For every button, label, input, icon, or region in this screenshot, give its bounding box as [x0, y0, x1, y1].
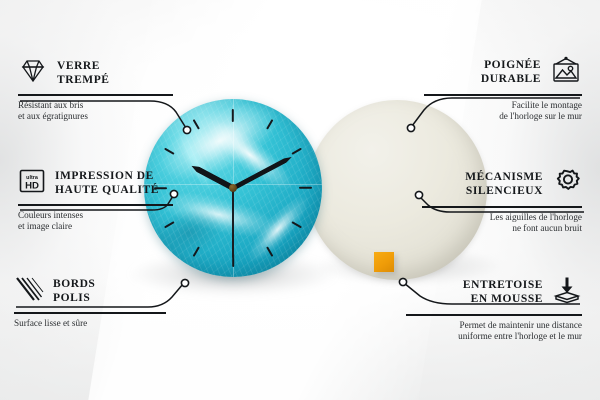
- feature-title: ENTRETOISEEN MOUSSE: [463, 279, 543, 306]
- feature-desc: Surface lisse et sûre: [14, 318, 172, 329]
- feature-title: IMPRESSION DEHAUTE QUALITÉ: [55, 170, 159, 197]
- ultra-hd-icon: ultra HD: [18, 168, 46, 199]
- diamond-icon: [18, 58, 48, 89]
- diagonal-stripes-icon: [14, 276, 44, 307]
- title-rule: [18, 94, 173, 96]
- clock-tick: [164, 148, 175, 155]
- feature-desc: Couleurs intenseset image claire: [18, 210, 178, 233]
- clock-hand-second: [232, 188, 234, 258]
- clock-tick: [232, 109, 234, 122]
- feature-desc: Facilite le montagede l'horloge sur le m…: [424, 100, 582, 123]
- feature-verre-trempe[interactable]: VERRETREMPÉ Résistant aux briset aux égr…: [18, 58, 176, 122]
- title-rule: [424, 94, 582, 96]
- foam-spacer-arrow-icon: [552, 276, 582, 309]
- clock-tick: [193, 119, 200, 130]
- svg-text:HD: HD: [25, 180, 39, 191]
- feature-title: BORDSPOLIS: [53, 278, 95, 305]
- title-rule: [14, 312, 166, 314]
- feature-desc: Résistant aux briset aux égratignures: [18, 100, 176, 123]
- feature-desc: Les aiguilles de l'horlogene font aucun …: [422, 212, 582, 235]
- feature-desc: Permet de maintenir une distanceuniforme…: [406, 320, 582, 343]
- foam-spacer: [374, 252, 394, 272]
- clock-tick: [299, 187, 312, 189]
- feature-impression-haute-qualite[interactable]: ultra HD IMPRESSION DEHAUTE QUALITÉ Coul…: [18, 168, 178, 232]
- clock-tick: [266, 246, 273, 257]
- picture-frame-hanger-icon: [550, 56, 582, 89]
- feature-poignee-durable[interactable]: POIGNÉEDURABLE Facilite le montagede l'h…: [424, 56, 582, 122]
- feature-mecanisme-silencieux[interactable]: MÉCANISMESILENCIEUX Les aiguilles de l'h…: [422, 168, 582, 234]
- title-rule: [18, 204, 173, 206]
- gear-icon: [552, 168, 582, 201]
- clock-center-cap: [229, 184, 237, 192]
- clock-tick: [193, 246, 200, 257]
- feature-bords-polis[interactable]: BORDSPOLIS Surface lisse et sûre: [14, 276, 172, 329]
- clock-tick: [291, 148, 302, 155]
- clock-tick: [266, 119, 273, 130]
- feature-entretoise-en-mousse[interactable]: ENTRETOISEEN MOUSSE Permet de maintenir …: [406, 276, 582, 342]
- feature-title: MÉCANISMESILENCIEUX: [465, 171, 543, 198]
- title-rule: [406, 314, 582, 316]
- infographic-canvas: VERRETREMPÉ Résistant aux briset aux égr…: [0, 0, 600, 400]
- title-rule: [422, 206, 582, 208]
- feature-title: POIGNÉEDURABLE: [481, 59, 541, 86]
- feature-title: VERRETREMPÉ: [57, 60, 110, 87]
- clock-tick: [291, 221, 302, 228]
